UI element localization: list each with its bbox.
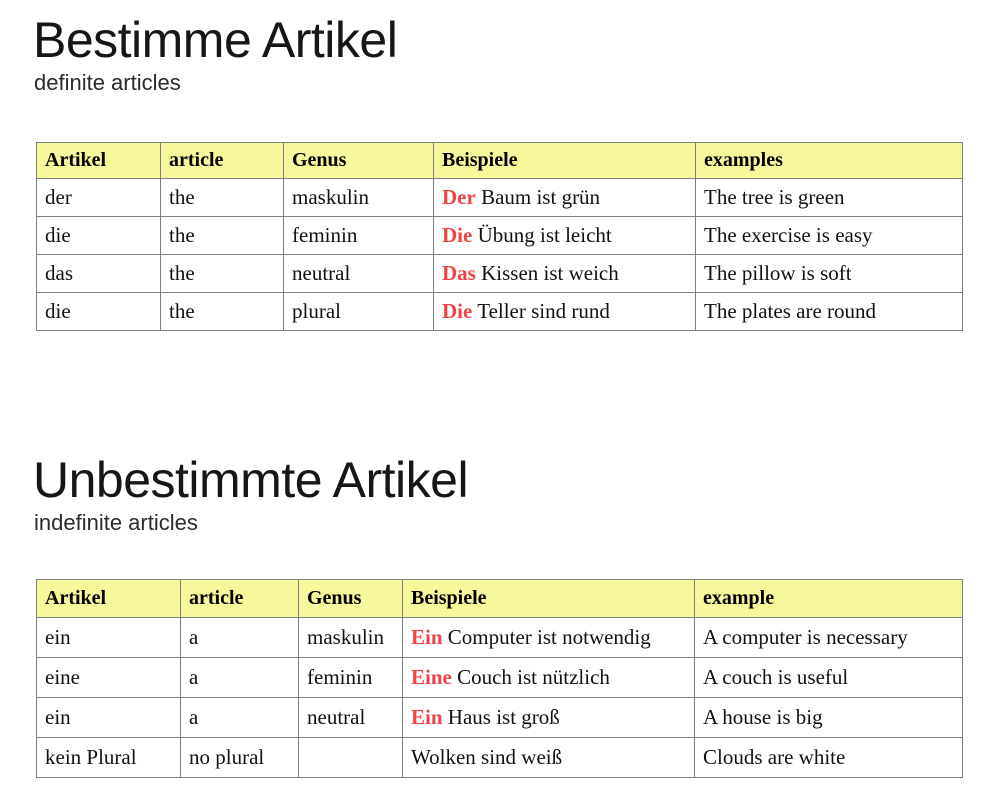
beispiel-rest: Baum ist grün xyxy=(481,185,600,209)
beispiel-article-highlight: Das xyxy=(442,261,476,285)
cell-artikel: eine xyxy=(37,658,181,698)
cell-genus: neutral xyxy=(284,255,434,293)
cell-artikel: das xyxy=(37,255,161,293)
cell-article: no plural xyxy=(181,738,299,778)
cell-beispiel: Ein Haus ist groß xyxy=(403,698,695,738)
column-header-genus: Genus xyxy=(284,143,434,179)
worksheet-page: Bestimme Artikel definite articles Artik… xyxy=(0,0,984,798)
cell-beispiel: Das Kissen ist weich xyxy=(434,255,696,293)
cell-beispiel: Die Übung ist leicht xyxy=(434,217,696,255)
column-header-article: article xyxy=(161,143,284,179)
beispiel-rest: Computer ist notwendig xyxy=(448,625,651,649)
cell-beispiel: Ein Computer ist notwendig xyxy=(403,618,695,658)
beispiel-article-highlight: Die xyxy=(442,299,472,323)
table-row: der the maskulin Der Baum ist grün The t… xyxy=(37,179,963,217)
indefinite-articles-table-body: ein a maskulin Ein Computer ist notwendi… xyxy=(37,618,963,778)
definite-articles-table-body: der the maskulin Der Baum ist grün The t… xyxy=(37,179,963,331)
cell-article: the xyxy=(161,255,284,293)
table-row: die the feminin Die Übung ist leicht The… xyxy=(37,217,963,255)
beispiel-rest: Haus ist groß xyxy=(448,705,560,729)
table-row: eine a feminin Eine Couch ist nützlich A… xyxy=(37,658,963,698)
definite-articles-table: Artikel article Genus Beispiele examples… xyxy=(36,142,963,331)
cell-example: The pillow is soft xyxy=(696,255,963,293)
column-header-artikel: Artikel xyxy=(37,580,181,618)
beispiel-rest: Übung ist leicht xyxy=(478,223,612,247)
cell-example: A couch is useful xyxy=(695,658,963,698)
column-header-artikel: Artikel xyxy=(37,143,161,179)
table-row: die the plural Die Teller sind rund The … xyxy=(37,293,963,331)
table-row: ein a maskulin Ein Computer ist notwendi… xyxy=(37,618,963,658)
cell-artikel: der xyxy=(37,179,161,217)
cell-article: the xyxy=(161,293,284,331)
cell-example: A house is big xyxy=(695,698,963,738)
cell-article: a xyxy=(181,698,299,738)
indefinite-articles-table: Artikel article Genus Beispiele example … xyxy=(36,579,963,778)
cell-article: the xyxy=(161,179,284,217)
cell-genus: feminin xyxy=(299,658,403,698)
column-header-examples: examples xyxy=(696,143,963,179)
beispiel-article-highlight: Der xyxy=(442,185,476,209)
cell-example: The exercise is easy xyxy=(696,217,963,255)
cell-article: the xyxy=(161,217,284,255)
cell-article: a xyxy=(181,618,299,658)
cell-beispiel: Eine Couch ist nützlich xyxy=(403,658,695,698)
column-header-example: example xyxy=(695,580,963,618)
cell-genus: feminin xyxy=(284,217,434,255)
table-header-row: Artikel article Genus Beispiele example xyxy=(37,580,963,618)
column-header-beispiele: Beispiele xyxy=(403,580,695,618)
section-title-indefinite-articles: Unbestimmte Artikel xyxy=(33,452,468,508)
cell-artikel: ein xyxy=(37,618,181,658)
cell-article: a xyxy=(181,658,299,698)
beispiel-article-highlight: Ein xyxy=(411,625,443,649)
beispiel-rest: Teller sind rund xyxy=(477,299,610,323)
beispiel-article-highlight: Die xyxy=(442,223,472,247)
section-title-definite-articles: Bestimme Artikel xyxy=(33,12,397,68)
beispiel-article-highlight: Eine xyxy=(411,665,452,689)
column-header-article: article xyxy=(181,580,299,618)
cell-artikel: kein Plural xyxy=(37,738,181,778)
indefinite-articles-table-header: Artikel article Genus Beispiele example xyxy=(37,580,963,618)
cell-beispiel: Die Teller sind rund xyxy=(434,293,696,331)
cell-genus: plural xyxy=(284,293,434,331)
cell-genus: maskulin xyxy=(284,179,434,217)
cell-artikel: die xyxy=(37,293,161,331)
cell-beispiel: Der Baum ist grün xyxy=(434,179,696,217)
beispiel-article-highlight: Ein xyxy=(411,705,443,729)
beispiel-rest: Wolken sind weiß xyxy=(411,745,562,769)
cell-genus: neutral xyxy=(299,698,403,738)
column-header-beispiele: Beispiele xyxy=(434,143,696,179)
cell-example: A computer is necessary xyxy=(695,618,963,658)
beispiel-rest: Couch ist nützlich xyxy=(457,665,610,689)
table-row: kein Plural no plural Wolken sind weiß C… xyxy=(37,738,963,778)
table-row: das the neutral Das Kissen ist weich The… xyxy=(37,255,963,293)
cell-example: Clouds are white xyxy=(695,738,963,778)
beispiel-rest: Kissen ist weich xyxy=(481,261,619,285)
cell-example: The plates are round xyxy=(696,293,963,331)
cell-genus: maskulin xyxy=(299,618,403,658)
table-row: ein a neutral Ein Haus ist groß A house … xyxy=(37,698,963,738)
table-header-row: Artikel article Genus Beispiele examples xyxy=(37,143,963,179)
cell-genus xyxy=(299,738,403,778)
cell-beispiel: Wolken sind weiß xyxy=(403,738,695,778)
cell-example: The tree is green xyxy=(696,179,963,217)
section-subtitle-indefinite-articles: indefinite articles xyxy=(34,510,198,536)
cell-artikel: die xyxy=(37,217,161,255)
definite-articles-table-header: Artikel article Genus Beispiele examples xyxy=(37,143,963,179)
column-header-genus: Genus xyxy=(299,580,403,618)
section-subtitle-definite-articles: definite articles xyxy=(34,70,181,96)
cell-artikel: ein xyxy=(37,698,181,738)
